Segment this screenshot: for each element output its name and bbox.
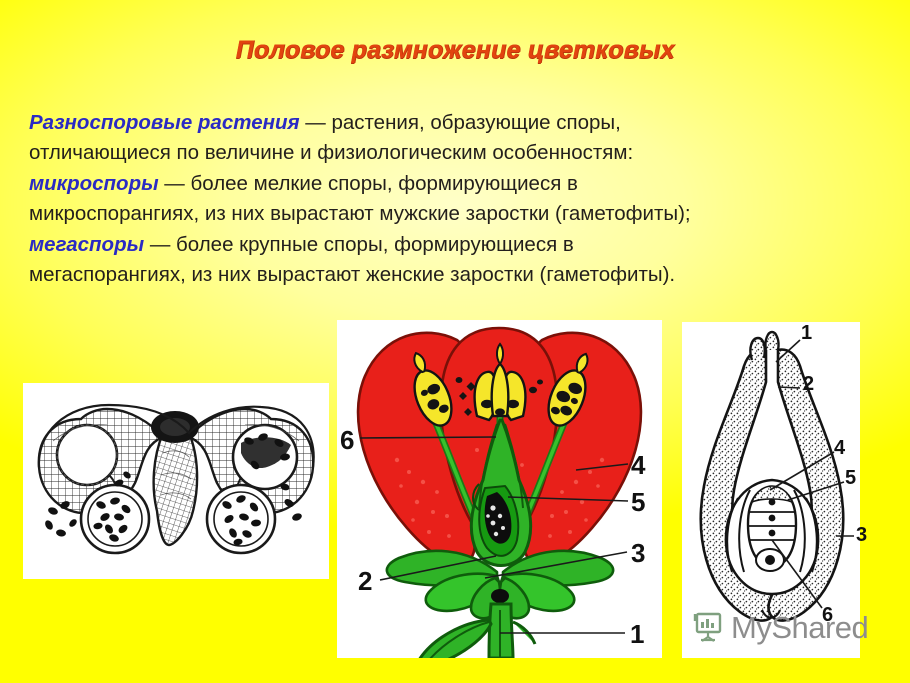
page-title: Половое размножение цветковых xyxy=(0,36,910,65)
ovule-label-2: 2 xyxy=(803,373,814,396)
flower-label-2: 2 xyxy=(358,566,372,597)
term-megaspory: мегаспоры xyxy=(29,233,144,256)
anther-drawing xyxy=(23,383,329,579)
text-line-2-rest: отличающиеся по величине и физиологическ… xyxy=(29,141,633,164)
slide-canvas: Половое размножение цветковых Разноспоро… xyxy=(0,0,910,683)
text-line-1-rest: — растения, образующие споры, xyxy=(300,111,621,134)
flower-label-5: 5 xyxy=(631,487,645,518)
text-line-4-rest: микроспорангиях, из них вырастают мужски… xyxy=(29,202,691,225)
ovule-label-6: 6 xyxy=(822,604,833,627)
stem xyxy=(489,604,513,658)
ovule-label-4: 4 xyxy=(834,437,845,460)
body-paragraph: Разноспоровые растения — растения, образ… xyxy=(29,108,889,290)
flower-drawing xyxy=(337,320,662,658)
text-line-3-rest: — более мелкие споры, формирующиеся в xyxy=(159,172,578,195)
text-line-6-rest: мегаспорангиях, из них вырастают женские… xyxy=(29,263,675,286)
text-line-3: микроспоры — более мелкие споры, формиру… xyxy=(29,169,889,199)
text-line-1: Разноспоровые растения — растения, образ… xyxy=(29,108,889,138)
term-raznosporovye: Разноспоровые растения xyxy=(29,111,300,134)
text-line-2: отличающиеся по величине и физиологическ… xyxy=(29,138,889,168)
ovule-label-1: 1 xyxy=(801,322,812,345)
figure-ovule-structure xyxy=(682,322,860,658)
ovule-label-5: 5 xyxy=(845,467,856,490)
term-microspory: микроспоры xyxy=(29,172,159,195)
ovule-label-3: 3 xyxy=(856,524,867,547)
flower-label-4: 4 xyxy=(631,450,645,481)
stem-leaf xyxy=(419,620,535,658)
flower-label-1: 1 xyxy=(630,619,644,650)
ovule-drawing xyxy=(682,322,860,658)
text-line-5: мегаспоры — более крупные споры, формиру… xyxy=(29,230,889,260)
flower-label-3: 3 xyxy=(631,538,645,569)
text-line-4: микроспорангиях, из них вырастают мужски… xyxy=(29,199,889,229)
flower-label-6: 6 xyxy=(340,425,354,456)
text-line-6: мегаспорангиях, из них вырастают женские… xyxy=(29,260,889,290)
figure-flower-structure xyxy=(337,320,662,658)
figure-anther-cross-section xyxy=(23,383,329,579)
text-line-5-rest: — более крупные споры, формирующиеся в xyxy=(144,233,574,256)
